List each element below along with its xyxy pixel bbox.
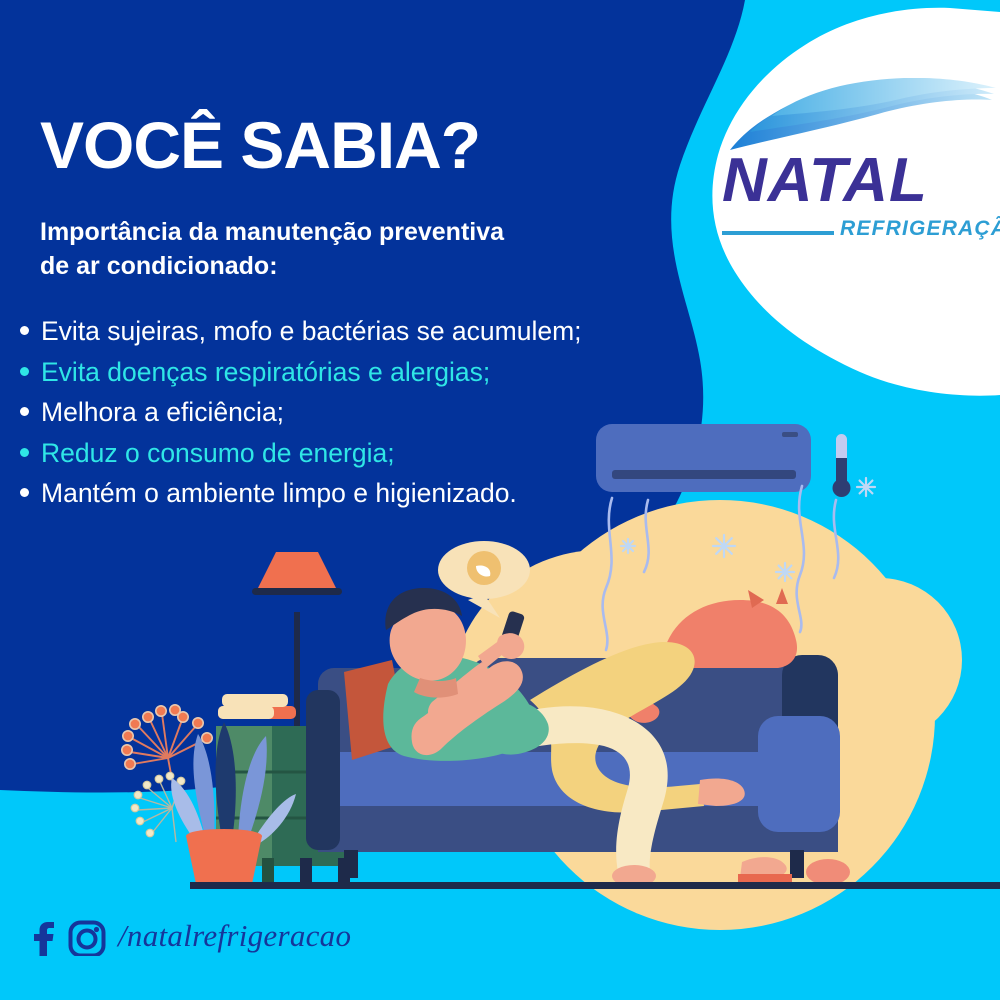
poster-canvas: NATAL REFRIGERAÇÃO VOCÊ SABIA? Importânc… [0,0,1000,1000]
bullet-dot [20,488,29,497]
benefits-list: Evita sujeiras, mofo e bactérias se acum… [20,318,582,521]
social-handle-text[interactable]: /natalrefrigeracao [118,918,351,954]
list-item-label: Mantém o ambiente limpo e higienizado. [41,480,517,507]
list-item: Evita doenças respiratórias e alergias; [20,359,582,386]
bullet-dot [20,326,29,335]
bullet-dot [20,367,29,376]
bullet-dot [20,448,29,457]
list-item: Melhora a eficiência; [20,399,582,426]
logo-tagline-text: REFRIGERAÇÃO [840,218,1000,239]
logo-brand-text: NATAL [722,150,928,212]
list-item-label: Melhora a eficiência; [41,399,284,426]
logo-underline [722,230,834,236]
list-item: Reduz o consumo de energia; [20,440,582,467]
facebook-icon[interactable] [28,916,56,956]
air-conditioner-icon [596,424,811,492]
page-title: VOCÊ SABIA? [40,112,480,178]
bullet-dot [20,407,29,416]
instagram-icon[interactable] [67,916,107,956]
natal-logo: NATAL REFRIGERAÇÃO [700,78,1000,258]
list-item: Mantém o ambiente limpo e higienizado. [20,480,582,507]
list-item-label: Evita sujeiras, mofo e bactérias se acum… [41,318,582,345]
thermometer-icon [833,434,851,497]
page-subtitle: Importância da manutenção preventiva de … [40,216,504,284]
list-item-label: Evita doenças respiratórias e alergias; [41,359,490,386]
floor-line [190,882,1000,889]
stacked-books [218,694,296,719]
social-handle-row[interactable]: /natalrefrigeracao [28,916,351,956]
list-item-label: Reduz o consumo de energia; [41,440,395,467]
list-item: Evita sujeiras, mofo e bactérias se acum… [20,318,582,345]
